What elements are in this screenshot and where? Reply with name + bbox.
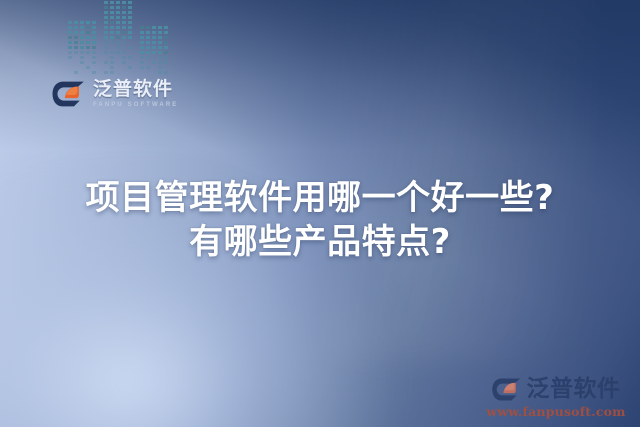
skyline-block (80, 56, 84, 59)
skyline-block (146, 46, 150, 49)
skyline-block (122, 46, 126, 49)
skyline-block (74, 21, 78, 24)
skyline-block (110, 11, 114, 14)
skyline-block (146, 61, 150, 64)
skyline-tower-mid (104, 0, 134, 74)
skyline-block (86, 36, 90, 39)
skyline-block (104, 1, 108, 4)
skyline-block (152, 56, 156, 59)
skyline-block (128, 61, 132, 64)
skyline-block (140, 56, 144, 59)
skyline-block (146, 31, 150, 34)
fanpu-logo-mark-icon (492, 377, 522, 402)
skyline-block (80, 71, 84, 74)
skyline-block (128, 46, 132, 49)
skyline-block (128, 41, 132, 44)
skyline-block (140, 46, 144, 49)
skyline-block (116, 46, 120, 49)
city-skyline-icon (62, 14, 182, 74)
skyline-block (146, 26, 150, 29)
skyline-block (110, 6, 114, 9)
watermark: 泛普软件 www.fanpusoft.com (486, 377, 626, 419)
skyline-block (158, 31, 162, 34)
skyline-block (104, 46, 108, 49)
skyline-tower-right (140, 26, 170, 74)
watermark-url: www.fanpusoft.com (486, 404, 626, 419)
skyline-block (128, 1, 132, 4)
skyline-block (104, 51, 108, 54)
skyline-block (116, 71, 120, 74)
skyline-block (140, 36, 144, 39)
skyline-block (128, 66, 132, 69)
skyline-block (92, 41, 96, 44)
skyline-block (140, 66, 144, 69)
skyline-block (68, 36, 72, 39)
skyline-block (104, 61, 108, 64)
skyline-block (122, 21, 126, 24)
skyline-block (110, 71, 114, 74)
skyline-block (146, 71, 150, 74)
skyline-block (74, 46, 78, 49)
skyline-block (164, 66, 168, 69)
skyline-block (68, 61, 72, 64)
skyline-block (122, 66, 126, 69)
skyline-block (110, 1, 114, 4)
skyline-block (122, 51, 126, 54)
fanpu-logo-mark-icon (52, 80, 86, 108)
skyline-block (92, 46, 96, 49)
skyline-block (80, 41, 84, 44)
skyline-block (74, 41, 78, 44)
skyline-block (68, 21, 72, 24)
skyline-block (92, 66, 96, 69)
skyline-block (116, 36, 120, 39)
skyline-block (122, 6, 126, 9)
skyline-block (152, 71, 156, 74)
skyline-block (104, 66, 108, 69)
brand-name-cn: 泛普软件 (93, 80, 178, 99)
skyline-block (116, 56, 120, 59)
skyline-block (122, 56, 126, 59)
skyline-block (92, 21, 96, 24)
skyline-block (74, 61, 78, 64)
skyline-block (140, 51, 144, 54)
skyline-block (158, 51, 162, 54)
skyline-block (80, 26, 84, 29)
skyline-block (140, 41, 144, 44)
skyline-block (68, 31, 72, 34)
headline: 项目管理软件用哪一个好一些? 有哪些产品特点? (0, 176, 640, 264)
skyline-block (164, 26, 168, 29)
skyline-block (80, 46, 84, 49)
skyline-tower-left (68, 21, 98, 74)
skyline-block (122, 36, 126, 39)
skyline-block (128, 26, 132, 29)
skyline-block (116, 66, 120, 69)
skyline-block (80, 66, 84, 69)
skyline-block (158, 36, 162, 39)
skyline-block (92, 56, 96, 59)
skyline-block (86, 51, 90, 54)
skyline-block (140, 26, 144, 29)
skyline-block (110, 46, 114, 49)
skyline-block (158, 26, 162, 29)
skyline-block (116, 6, 120, 9)
skyline-block (128, 16, 132, 19)
skyline-block (80, 61, 84, 64)
skyline-block (86, 26, 90, 29)
skyline-block (128, 21, 132, 24)
skyline-block (140, 71, 144, 74)
skyline-block (110, 61, 114, 64)
brand-block: 泛普软件 FANPU SOFTWARE (50, 14, 200, 108)
skyline-block (116, 61, 120, 64)
skyline-block (122, 11, 126, 14)
skyline-block (68, 41, 72, 44)
skyline-block (164, 41, 168, 44)
skyline-block (110, 21, 114, 24)
skyline-block (152, 61, 156, 64)
skyline-block (74, 36, 78, 39)
skyline-block (110, 16, 114, 19)
skyline-block (158, 71, 162, 74)
skyline-block (68, 26, 72, 29)
headline-line-1: 项目管理软件用哪一个好一些? (0, 176, 640, 220)
skyline-block (86, 31, 90, 34)
skyline-block (80, 21, 84, 24)
watermark-name-cn: 泛普软件 (527, 378, 621, 401)
skyline-block (86, 61, 90, 64)
skyline-block (110, 26, 114, 29)
skyline-block (116, 16, 120, 19)
skyline-block (146, 56, 150, 59)
skyline-block (152, 51, 156, 54)
skyline-block (80, 36, 84, 39)
headline-line-2: 有哪些产品特点? (0, 220, 640, 264)
skyline-block (128, 56, 132, 59)
skyline-block (140, 61, 144, 64)
skyline-block (146, 66, 150, 69)
skyline-block (110, 56, 114, 59)
skyline-block (122, 31, 126, 34)
skyline-block (158, 66, 162, 69)
skyline-block (122, 26, 126, 29)
skyline-block (158, 56, 162, 59)
skyline-block (74, 26, 78, 29)
skyline-block (104, 16, 108, 19)
brand-name-group: 泛普软件 FANPU SOFTWARE (93, 80, 178, 108)
skyline-block (164, 46, 168, 49)
skyline-block (116, 1, 120, 4)
skyline-block (128, 51, 132, 54)
skyline-block (104, 71, 108, 74)
skyline-block (152, 46, 156, 49)
skyline-block (146, 41, 150, 44)
skyline-block (128, 31, 132, 34)
skyline-block (122, 61, 126, 64)
skyline-block (86, 56, 90, 59)
skyline-block (80, 51, 84, 54)
skyline-block (164, 36, 168, 39)
brand-name-en: FANPU SOFTWARE (93, 102, 178, 108)
skyline-block (158, 41, 162, 44)
skyline-block (86, 21, 90, 24)
skyline-block (128, 71, 132, 74)
skyline-block (68, 46, 72, 49)
skyline-block (92, 51, 96, 54)
watermark-logo-lockup: 泛普软件 (486, 377, 626, 402)
skyline-block (128, 6, 132, 9)
skyline-block (68, 51, 72, 54)
skyline-block (128, 11, 132, 14)
skyline-block (92, 31, 96, 34)
promo-banner: 泛普软件 FANPU SOFTWARE 项目管理软件用哪一个好一些? 有哪些产品… (0, 0, 640, 427)
skyline-block (104, 6, 108, 9)
skyline-block (116, 31, 120, 34)
skyline-block (152, 26, 156, 29)
skyline-block (74, 51, 78, 54)
skyline-block (152, 31, 156, 34)
skyline-block (92, 36, 96, 39)
skyline-block (86, 41, 90, 44)
skyline-block (104, 31, 108, 34)
skyline-block (110, 51, 114, 54)
skyline-block (116, 11, 120, 14)
skyline-block (122, 41, 126, 44)
skyline-block (122, 1, 126, 4)
skyline-block (146, 36, 150, 39)
skyline-block (164, 56, 168, 59)
skyline-block (158, 61, 162, 64)
skyline-block (74, 66, 78, 69)
skyline-block (152, 66, 156, 69)
brand-logo-lockup: 泛普软件 FANPU SOFTWARE (52, 80, 200, 108)
skyline-block (92, 71, 96, 74)
skyline-block (68, 56, 72, 59)
skyline-block (128, 36, 132, 39)
skyline-block (104, 11, 108, 14)
skyline-block (116, 41, 120, 44)
skyline-block (140, 31, 144, 34)
skyline-block (104, 21, 108, 24)
skyline-block (104, 26, 108, 29)
skyline-block (104, 41, 108, 44)
skyline-block (110, 66, 114, 69)
skyline-block (92, 26, 96, 29)
skyline-block (164, 31, 168, 34)
skyline-block (164, 51, 168, 54)
skyline-block (104, 56, 108, 59)
skyline-block (104, 36, 108, 39)
skyline-block (152, 41, 156, 44)
skyline-block (122, 16, 126, 19)
skyline-block (152, 36, 156, 39)
skyline-block (74, 71, 78, 74)
skyline-block (122, 71, 126, 74)
skyline-block (68, 71, 72, 74)
skyline-block (158, 46, 162, 49)
skyline-block (86, 46, 90, 49)
skyline-block (110, 41, 114, 44)
skyline-block (92, 61, 96, 64)
skyline-block (80, 31, 84, 34)
skyline-block (164, 71, 168, 74)
skyline-block (164, 61, 168, 64)
skyline-block (116, 51, 120, 54)
skyline-block (116, 26, 120, 29)
skyline-block (74, 56, 78, 59)
skyline-block (146, 51, 150, 54)
skyline-block (86, 71, 90, 74)
skyline-block (74, 31, 78, 34)
skyline-block (68, 66, 72, 69)
skyline-block (86, 66, 90, 69)
skyline-block (110, 36, 114, 39)
skyline-block (116, 21, 120, 24)
skyline-block (110, 31, 114, 34)
